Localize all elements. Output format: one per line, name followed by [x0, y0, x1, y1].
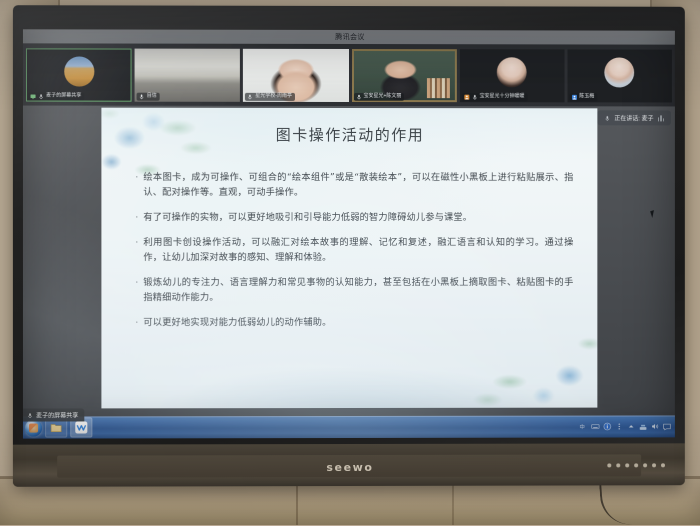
avatar-badge-icon: [571, 94, 577, 100]
presentation-slide[interactable]: 图卡操作活动的作用 · 绘本图卡，成为可操作、可组合的“绘本组件”或是“散装绘本…: [101, 108, 597, 409]
action-center-icon[interactable]: [663, 422, 671, 430]
bullet-marker: ·: [136, 315, 139, 330]
mic-icon: [38, 93, 44, 99]
bullet-marker: ·: [136, 235, 139, 265]
info-circle-icon[interactable]: [603, 423, 611, 431]
display-bottom-bezel: seewo: [13, 443, 685, 486]
participant-name: 麦子的屏幕共享: [46, 94, 81, 99]
avatar: [64, 56, 94, 86]
explorer-folder-icon: [50, 423, 62, 433]
meeting-app-icon: [75, 421, 87, 433]
screen-share-icon: [30, 93, 36, 99]
meeting-titlebar: 腾讯会议: [23, 29, 675, 44]
participant-name-badge: 宝安星光+陈文丽: [354, 93, 405, 101]
bullet-text: 锻炼幼儿的专注力、语言理解力和常见事物的认知能力，甚至包括在小黑板上摘取图卡、粘…: [143, 275, 573, 305]
participant-filmstrip[interactable]: 麦子的屏幕共享 自信 星光学校-周雨亭: [23, 43, 675, 106]
participant-name: 陈玉梅: [579, 94, 594, 99]
mic-icon: [247, 93, 253, 99]
list-item: · 可以更好地实现对能力低弱幼儿的动作辅助。: [136, 315, 574, 330]
bullet-text: 可以更好地实现对能力低弱幼儿的动作辅助。: [143, 315, 573, 330]
bullet-marker: ·: [136, 275, 139, 305]
interactive-display: 腾讯会议 麦子的屏幕共享 自信: [13, 5, 685, 487]
bullet-text: 有了可操作的实物，可以更好地吸引和引导能力低弱的智力障碍幼儿参与课堂。: [143, 210, 573, 225]
participant-tile[interactable]: 宝安星光十分钟暖暖: [460, 49, 565, 102]
participant-name: 宝安星光+陈文丽: [364, 94, 402, 99]
participant-name: 自信: [147, 94, 157, 99]
shared-screen-area[interactable]: 图卡操作活动的作用 · 绘本图卡，成为可操作、可组合的“绘本组件”或是“散装绘本…: [23, 106, 675, 417]
participant-name: 宝安星光十分钟暖暖: [480, 94, 525, 99]
volume-icon[interactable]: [651, 422, 659, 430]
mic-icon: [604, 115, 610, 121]
list-item: · 有了可操作的实物，可以更好地吸引和引导能力低弱的智力障碍幼儿参与课堂。: [136, 210, 574, 225]
mic-icon: [356, 94, 362, 100]
vertical-dots-icon[interactable]: [615, 423, 623, 431]
bullet-marker: ·: [136, 170, 139, 200]
system-tray[interactable]: 中: [579, 415, 674, 437]
participant-tile[interactable]: 陈玉梅: [567, 49, 672, 102]
start-button[interactable]: [25, 419, 42, 436]
participant-name-badge: 星光学校-周雨亭: [245, 92, 295, 100]
list-item: · 锻炼幼儿的专注力、语言理解力和常见事物的认知能力，甚至包括在小黑板上摘取图卡…: [136, 275, 574, 305]
bullet-marker: ·: [136, 210, 139, 225]
bullet-text: 利用图卡创设操作活动，可以融汇对绘本故事的理解、记忆和复述，融汇语言和认知的学习…: [143, 235, 573, 265]
participant-tile[interactable]: 宝安星光+陈文丽: [352, 49, 457, 102]
avatar: [497, 57, 527, 87]
bullet-text: 绘本图卡，成为可操作、可组合的“绘本组件”或是“散装绘本”，可以在磁性小黑板上进…: [143, 170, 573, 200]
participant-name: 星光学校-周雨亭: [255, 94, 292, 99]
keyboard-icon[interactable]: [591, 423, 599, 431]
brand-logo: seewo: [13, 460, 685, 474]
participant-tile[interactable]: 自信: [135, 48, 241, 101]
ime-cn-icon[interactable]: 中: [579, 423, 587, 431]
participant-tile[interactable]: 麦子的屏幕共享: [26, 48, 132, 101]
screen-share-label: 麦子的屏幕共享: [36, 410, 78, 419]
speaking-label: 正在讲话: 麦子: [614, 113, 653, 122]
list-item: · 利用图卡创设操作活动，可以融汇对绘本故事的理解、记忆和复述，融汇语言和认知的…: [136, 235, 574, 265]
participant-name-badge: 自信: [137, 92, 160, 100]
participant-name-badge: 宝安星光十分钟暖暖: [462, 93, 528, 101]
screen-share-badge: 麦子的屏幕共享: [23, 408, 84, 421]
meeting-title: 腾讯会议: [335, 32, 365, 42]
participant-name-badge: 陈玉梅: [569, 93, 597, 101]
svg-text:中: 中: [579, 423, 584, 431]
slide-title: 图卡操作活动的作用: [101, 124, 597, 146]
mic-icon: [472, 94, 478, 100]
avatar-badge-icon: [464, 94, 470, 100]
list-item: · 绘本图卡，成为可操作、可组合的“绘本组件”或是“散装绘本”，可以在磁性小黑板…: [136, 170, 574, 200]
bezel-indicator-dots: [607, 463, 665, 467]
network-icon[interactable]: [639, 422, 647, 430]
participant-tile[interactable]: 星光学校-周雨亭: [243, 48, 348, 101]
windows-taskbar[interactable]: 中: [23, 415, 675, 438]
speaking-indicator: 正在讲话: 麦子: [598, 110, 671, 125]
cabinet-seam: [452, 479, 454, 525]
mic-icon: [27, 412, 33, 418]
display-screen[interactable]: 腾讯会议 麦子的屏幕共享 自信: [23, 29, 675, 438]
caret-up-icon[interactable]: [627, 422, 635, 430]
slide-bullet-list: · 绘本图卡，成为可操作、可组合的“绘本组件”或是“散装绘本”，可以在磁性小黑板…: [136, 170, 574, 340]
audio-level-icon: [658, 115, 664, 121]
avatar: [605, 57, 635, 87]
participant-name-badge: 麦子的屏幕共享: [28, 92, 84, 100]
mic-icon: [139, 93, 145, 99]
